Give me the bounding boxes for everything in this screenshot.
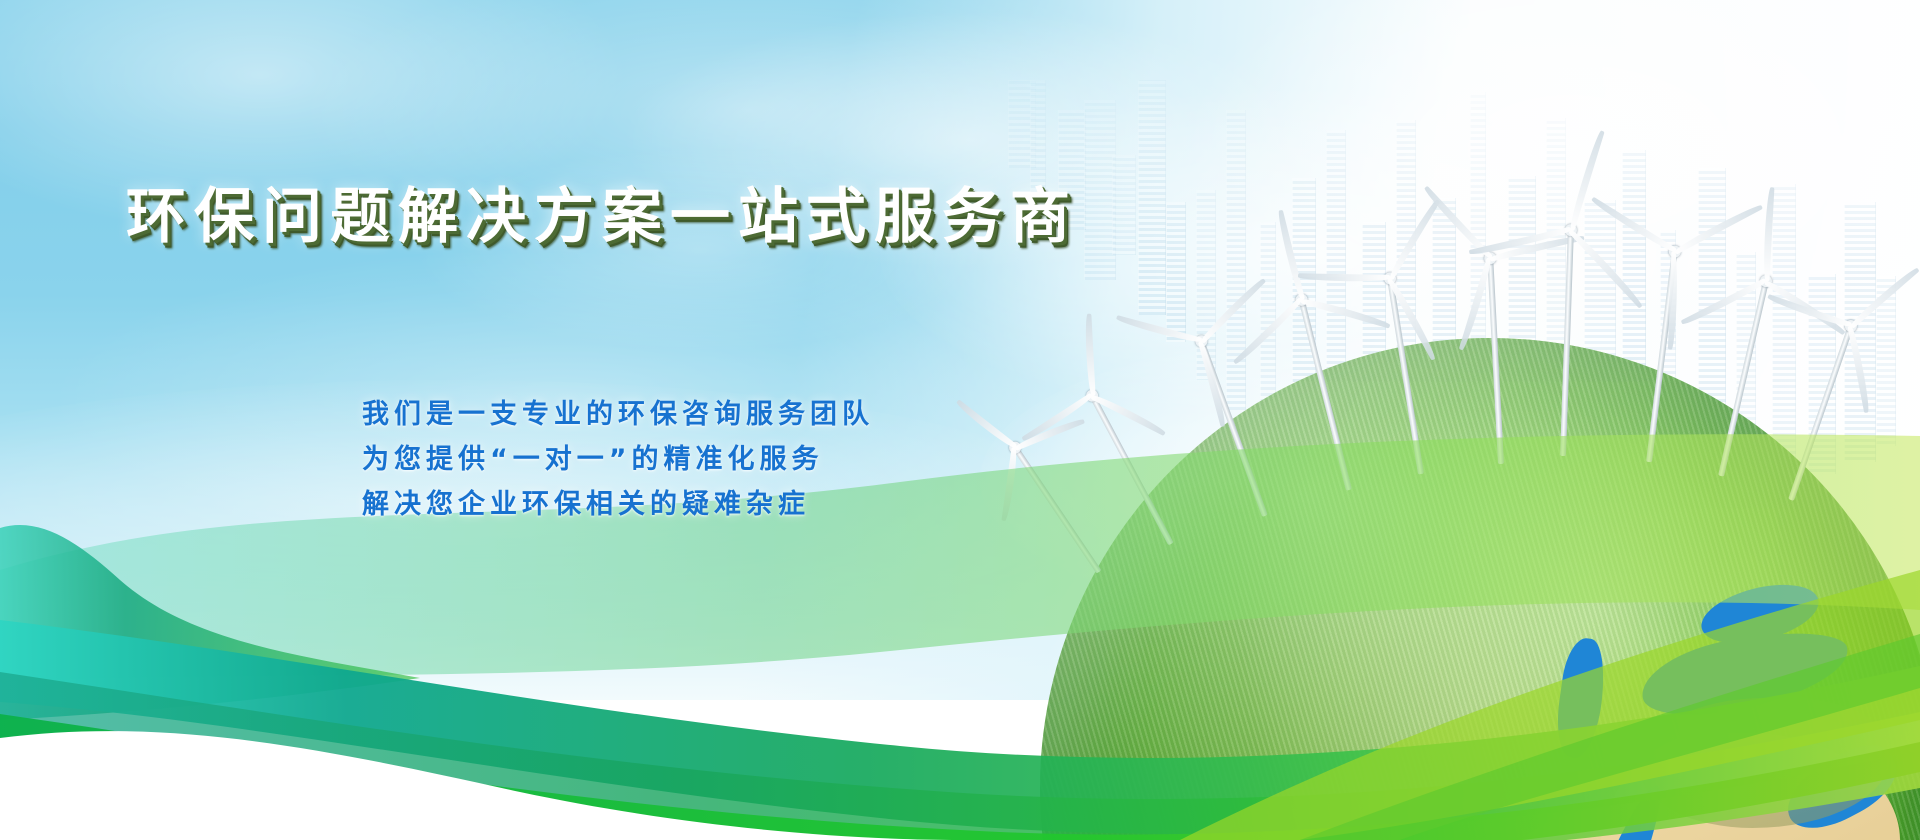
eco-hero-banner: 环保问题解决方案一站式服务商 我们是一支专业的环保咨询服务团队 为您提供“一对一… — [0, 0, 1920, 840]
subheadline-line-3: 解决您企业环保相关的疑难杂症 — [362, 482, 874, 527]
green-wave-ribbon — [0, 420, 1920, 840]
skyscraper-icon — [1112, 155, 1136, 255]
page-title: 环保问题解决方案一站式服务商 — [126, 168, 1078, 255]
skyscraper-icon — [1226, 110, 1246, 410]
subheadline-line-1: 我们是一支专业的环保咨询服务团队 — [362, 392, 874, 437]
subheadline-line-2: 为您提供“一对一”的精准化服务 — [362, 437, 874, 482]
skyscraper-icon — [1138, 75, 1166, 315]
subheadline-block: 我们是一支专业的环保咨询服务团队 为您提供“一对一”的精准化服务 解决您企业环保… — [362, 392, 874, 527]
ribbon-band-pale — [0, 434, 1920, 682]
skyscraper-icon — [1166, 202, 1186, 342]
